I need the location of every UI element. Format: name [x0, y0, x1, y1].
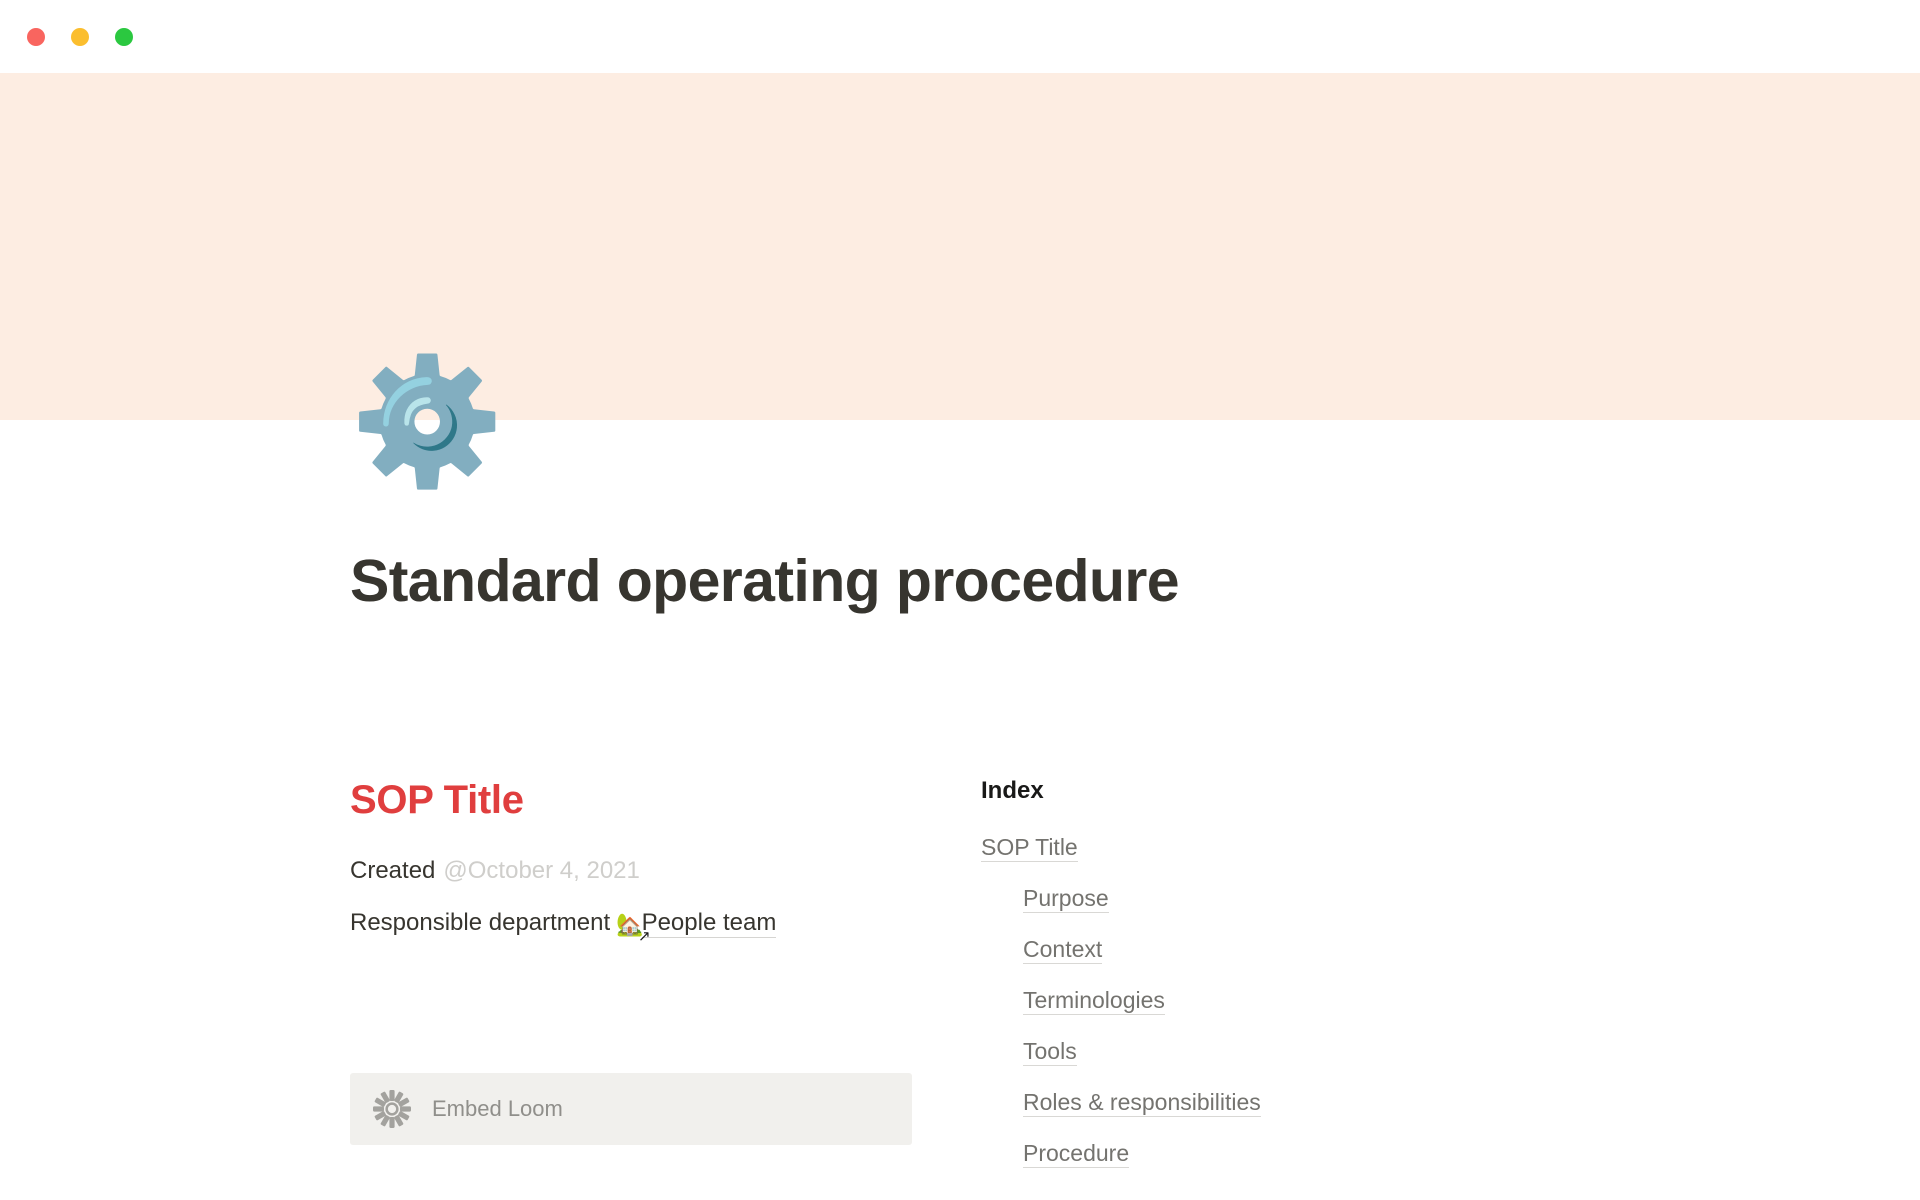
department-label: Responsible department — [350, 909, 610, 936]
index-item-tools: Tools — [981, 1036, 1555, 1067]
minimize-button[interactable] — [71, 28, 89, 46]
index-link-tools[interactable]: Tools — [1023, 1038, 1077, 1066]
embed-loom-label: Embed Loom — [432, 1098, 563, 1120]
index-link-context[interactable]: Context — [1023, 936, 1102, 964]
index-item-terminologies: Terminologies — [981, 985, 1555, 1016]
gear-emoji[interactable]: ⚙️ — [350, 350, 494, 494]
index-item-roles-responsibilities: Roles & responsibilities — [981, 1087, 1555, 1118]
index-heading: Index — [981, 775, 1555, 806]
maximize-button[interactable] — [115, 28, 133, 46]
app-window: ⚙️ Standard operating procedure SOP Titl… — [0, 0, 1920, 1200]
index-link-purpose[interactable]: Purpose — [1023, 885, 1109, 913]
created-date-mention[interactable]: @October 4, 2021 — [443, 857, 639, 884]
window-controls — [27, 28, 133, 46]
page-content: ⚙️ Standard operating procedure SOP Titl… — [0, 73, 1920, 1200]
index-item-context: Context — [981, 934, 1555, 965]
close-button[interactable] — [27, 28, 45, 46]
people-team-link[interactable]: People team — [642, 909, 777, 938]
sop-title-heading[interactable]: SOP Title — [350, 775, 940, 825]
index-link-procedure[interactable]: Procedure — [1023, 1140, 1129, 1168]
index-item-purpose: Purpose — [981, 883, 1555, 914]
index-item-procedure: Procedure — [981, 1138, 1555, 1169]
link-arrow-icon: ↗ — [638, 929, 651, 944]
created-property-row: Created@October 4, 2021 — [350, 853, 940, 889]
department-property-row: Responsible department🏡↗People team — [350, 905, 940, 941]
window-titlebar — [0, 0, 1920, 73]
index-link-sop-title[interactable]: SOP Title — [981, 834, 1078, 862]
embed-loom-block[interactable]: Embed Loom — [350, 1073, 912, 1145]
index-link-terminologies[interactable]: Terminologies — [1023, 987, 1165, 1015]
page-title[interactable]: Standard operating procedure — [350, 548, 1600, 616]
created-label: Created — [350, 857, 435, 884]
index-item-sop-title: SOP Title — [981, 832, 1555, 863]
house-with-garden-emoji: 🏡↗ — [616, 908, 643, 941]
index-link-roles-responsibilities[interactable]: Roles & responsibilities — [1023, 1089, 1261, 1117]
loom-icon — [372, 1089, 412, 1129]
index-column: Index SOP Title Purpose Context Terminol… — [940, 775, 1555, 1190]
left-column: SOP Title Created@October 4, 2021 Respon… — [350, 775, 940, 957]
